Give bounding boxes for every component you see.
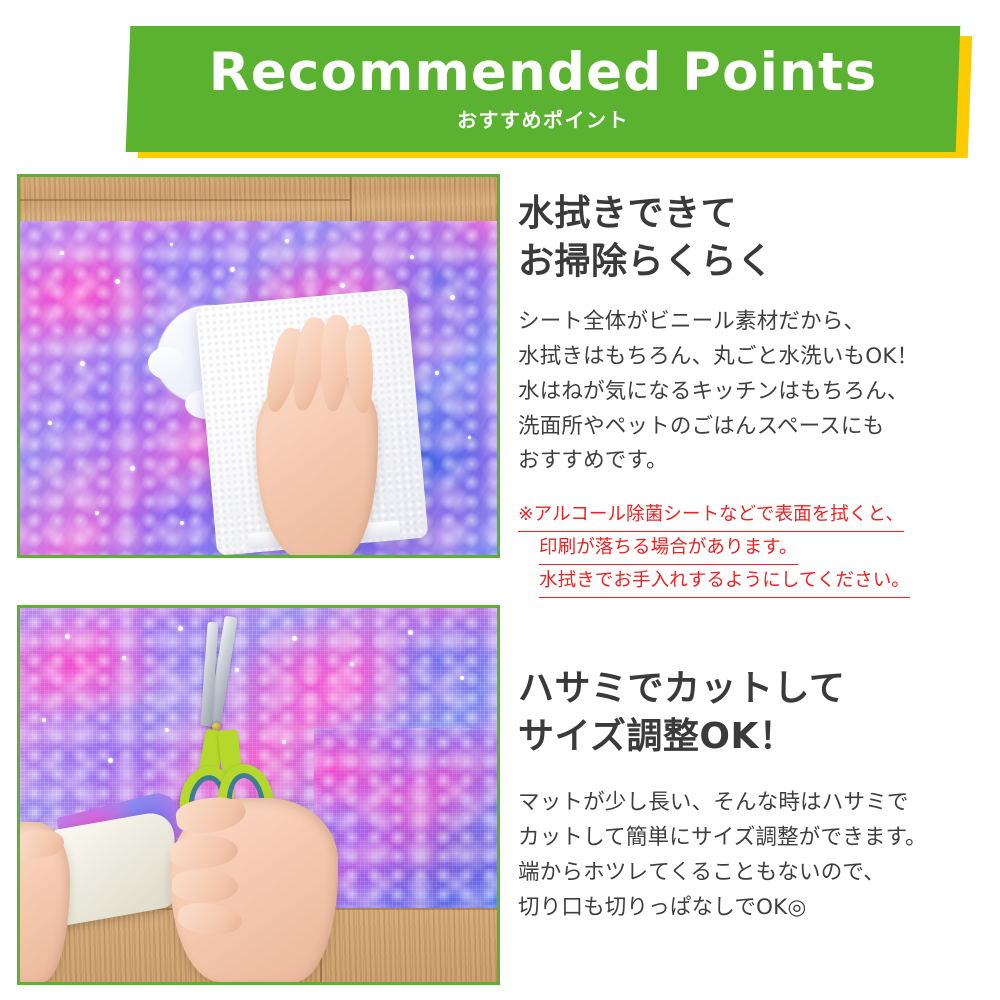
- wood-plank-seam: [350, 177, 352, 221]
- banner-green-plate: Recommended Points おすすめポイント: [126, 26, 961, 152]
- wood-plank-seam: [20, 199, 350, 201]
- caution-note: ※アルコール除菌シートなどで表面を拭くと、 印刷が落ちる場合があります。 水拭き…: [518, 499, 988, 598]
- feature-text-wipe: 水拭きできて お掃除らくらく シート全体がビニール素材だから、 水拭きはもちろん…: [518, 190, 988, 598]
- marbled-galaxy-mat-panel: [314, 728, 497, 908]
- feature-heading: 水拭きできて お掃除らくらく: [518, 190, 988, 285]
- caution-note-line: 印刷が落ちる場合があります。: [539, 532, 798, 565]
- feature-body: シート全体がビニール素材だから、 水拭きはもちろん、丸ごと水洗いもOK！ 水はね…: [518, 305, 988, 479]
- feature-heading: ハサミでカットして サイズ調整OK！: [518, 665, 988, 760]
- feature-section-cut: ハサミでカットして サイズ調整OK！ マットが少し長い、そんな時はハサミで カッ…: [0, 605, 1000, 990]
- photo-cutting-mat-with-scissors: [17, 605, 500, 985]
- caution-note-line: 水拭きでお手入れするようにしてください。: [539, 565, 910, 598]
- header-banner: Recommended Points おすすめポイント: [0, 0, 1000, 172]
- caution-note-line: ※アルコール除菌シートなどで表面を拭くと、: [518, 499, 904, 532]
- feature-section-wipe: 水拭きできて お掃除らくらく シート全体がビニール素材だから、 水拭きはもちろん…: [0, 174, 1000, 574]
- promo-page: Recommended Points おすすめポイント: [0, 0, 1000, 1000]
- feature-body: マットが少し長い、そんな時はハサミで カットして簡単にサイズ調整ができます。 端…: [518, 786, 988, 925]
- page-subtitle: おすすめポイント: [457, 110, 629, 130]
- photo-wiping-mat-with-towel: [17, 174, 500, 558]
- feature-text-cut: ハサミでカットして サイズ調整OK！ マットが少し長い、そんな時はハサミで カッ…: [518, 665, 988, 925]
- page-title: Recommended Points: [209, 46, 878, 99]
- spilled-milk-lobe: [148, 347, 184, 379]
